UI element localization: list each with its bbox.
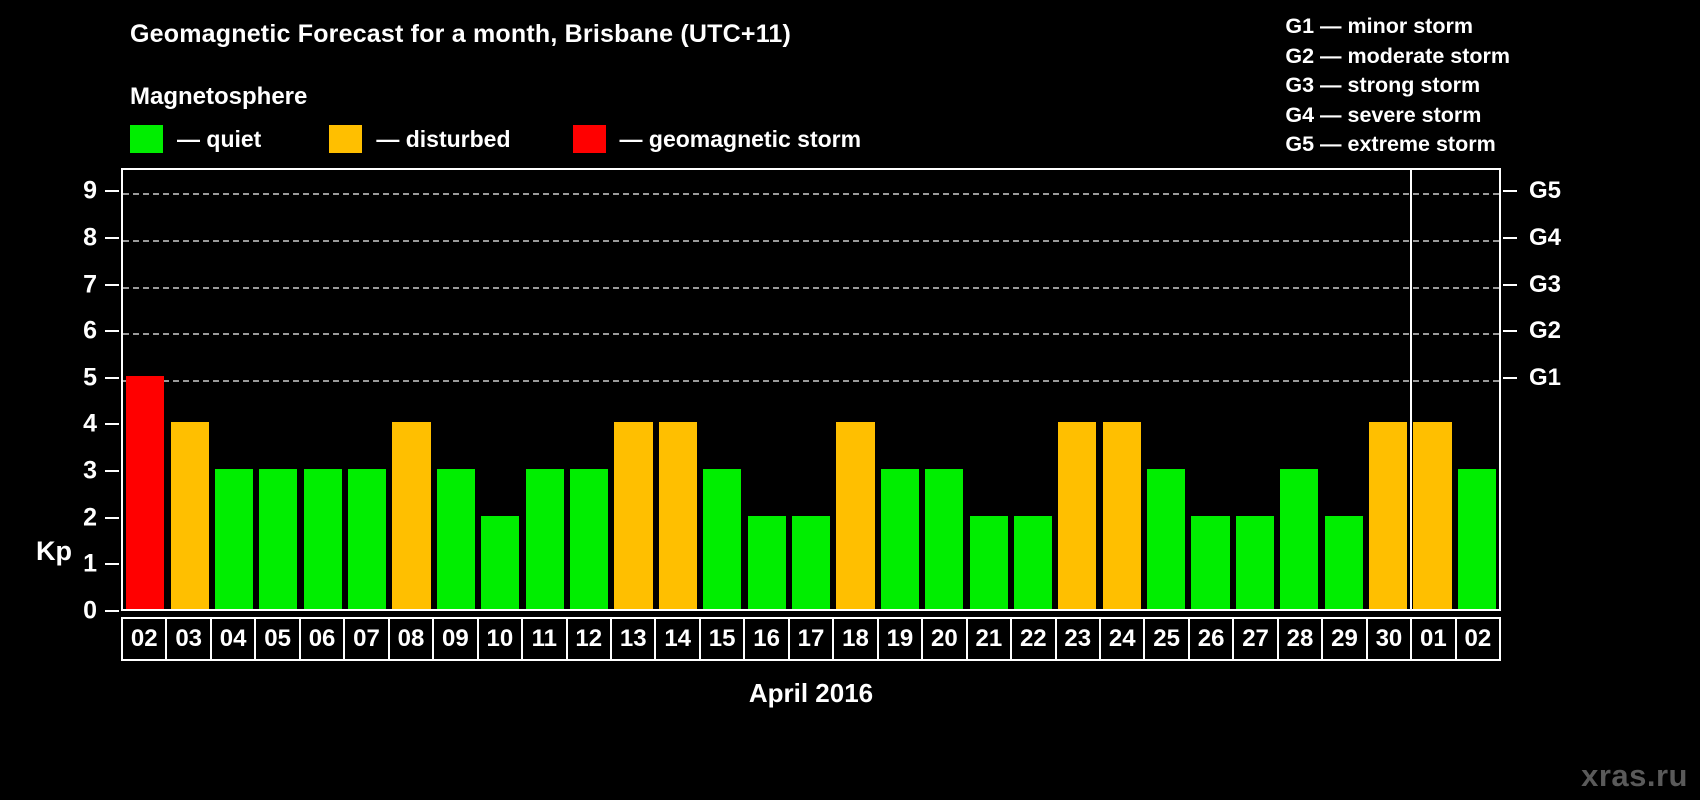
bar-02[interactable] xyxy=(1458,469,1496,609)
x-axis-label-14: 16 xyxy=(745,619,789,659)
bar-cell[interactable] xyxy=(1455,170,1499,609)
plot-area xyxy=(121,168,1501,611)
y-tick-label-3: 3 xyxy=(83,457,97,486)
bar-16[interactable] xyxy=(748,516,786,609)
bar-cell[interactable] xyxy=(212,170,256,609)
y-tick-label-7: 7 xyxy=(83,270,97,299)
legend-label-storm: — geomagnetic storm xyxy=(620,126,862,153)
bar-05[interactable] xyxy=(259,469,297,609)
magnetosphere-legend: — quiet — disturbed — geomagnetic storm xyxy=(130,125,861,153)
bar-cell[interactable] xyxy=(167,170,211,609)
bar-cell[interactable] xyxy=(611,170,655,609)
y-tick-mark-3 xyxy=(105,470,119,472)
bar-26[interactable] xyxy=(1191,516,1229,609)
x-axis-label-11: 13 xyxy=(612,619,656,659)
bar-19[interactable] xyxy=(881,469,919,609)
g-tick-label-G2: G2 xyxy=(1529,317,1561,345)
g-scale-line-g1: G1 — minor storm xyxy=(1285,12,1510,42)
bar-cell[interactable] xyxy=(256,170,300,609)
page-title: Geomagnetic Forecast for a month, Brisba… xyxy=(130,20,791,49)
bar-15[interactable] xyxy=(703,469,741,609)
x-axis-label-2: 04 xyxy=(212,619,256,659)
g-scale-line-g2: G2 — moderate storm xyxy=(1285,42,1510,72)
x-axis-label-29: 01 xyxy=(1412,619,1456,659)
x-axis-label-17: 19 xyxy=(879,619,923,659)
g-tick-label-G3: G3 xyxy=(1529,271,1561,299)
bar-23[interactable] xyxy=(1058,422,1096,609)
bar-06[interactable] xyxy=(304,469,342,609)
legend-item-disturbed: — disturbed xyxy=(329,125,510,153)
g-tick-label-G5: G5 xyxy=(1529,177,1561,205)
bar-14[interactable] xyxy=(659,422,697,609)
g-scale-line-g4: G4 — severe storm xyxy=(1285,101,1510,131)
g-tick-mark-G2 xyxy=(1503,330,1517,332)
y-axis-title: Kp xyxy=(36,536,72,567)
bar-cell[interactable] xyxy=(744,170,788,609)
bar-28[interactable] xyxy=(1280,469,1318,609)
y-tick-label-9: 9 xyxy=(83,177,97,206)
bar-18[interactable] xyxy=(836,422,874,609)
g-tick-mark-G3 xyxy=(1503,284,1517,286)
bar-08[interactable] xyxy=(392,422,430,609)
legend-heading: Magnetosphere xyxy=(130,83,307,111)
y-tick-mark-0 xyxy=(105,610,119,612)
bar-cell[interactable] xyxy=(345,170,389,609)
bar-cell[interactable] xyxy=(1322,170,1366,609)
geomagnetic-forecast-chart: Geomagnetic Forecast for a month, Brisba… xyxy=(0,0,1700,800)
x-axis-label-10: 12 xyxy=(568,619,612,659)
x-axis-label-26: 28 xyxy=(1279,619,1323,659)
y-tick-label-2: 2 xyxy=(83,503,97,532)
bar-cell[interactable] xyxy=(567,170,611,609)
bar-29[interactable] xyxy=(1325,516,1363,609)
bar-cell[interactable] xyxy=(1011,170,1055,609)
bar-cell[interactable] xyxy=(1188,170,1232,609)
bar-20[interactable] xyxy=(925,469,963,609)
y-tick-label-4: 4 xyxy=(83,410,97,439)
bar-cell[interactable] xyxy=(478,170,522,609)
legend-item-storm: — geomagnetic storm xyxy=(573,125,862,153)
bar-cell[interactable] xyxy=(301,170,345,609)
month-divider-line xyxy=(1410,170,1412,609)
x-axis-label-8: 10 xyxy=(479,619,523,659)
g-scale-legend: G1 — minor storm G2 — moderate storm G3 … xyxy=(1285,12,1510,160)
bar-cell[interactable] xyxy=(1100,170,1144,609)
bar-09[interactable] xyxy=(437,469,475,609)
bar-11[interactable] xyxy=(526,469,564,609)
x-axis-label-25: 27 xyxy=(1234,619,1278,659)
g-tick-label-G1: G1 xyxy=(1529,364,1561,392)
x-axis-label-12: 14 xyxy=(656,619,700,659)
legend-label-quiet: — quiet xyxy=(177,126,261,153)
bar-cell[interactable] xyxy=(922,170,966,609)
bar-cell[interactable] xyxy=(878,170,922,609)
y-tick-label-5: 5 xyxy=(83,363,97,392)
bar-cell[interactable] xyxy=(389,170,433,609)
legend-label-disturbed: — disturbed xyxy=(376,126,510,153)
x-axis-label-6: 08 xyxy=(390,619,434,659)
x-axis-label-30: 02 xyxy=(1457,619,1499,659)
bar-30[interactable] xyxy=(1369,422,1407,609)
x-axis-label-27: 29 xyxy=(1323,619,1367,659)
site-watermark: xras.ru xyxy=(1581,758,1688,794)
x-axis-label-1: 03 xyxy=(167,619,211,659)
bar-22[interactable] xyxy=(1014,516,1052,609)
bar-cell[interactable] xyxy=(1144,170,1188,609)
x-axis-label-19: 21 xyxy=(968,619,1012,659)
x-axis-label-16: 18 xyxy=(834,619,878,659)
bar-cell[interactable] xyxy=(833,170,877,609)
legend-swatch-disturbed-icon xyxy=(329,125,362,153)
y-tick-mark-7 xyxy=(105,284,119,286)
y-tick-label-6: 6 xyxy=(83,317,97,346)
x-axis-label-5: 07 xyxy=(345,619,389,659)
x-axis-label-21: 23 xyxy=(1057,619,1101,659)
x-axis-label-24: 26 xyxy=(1190,619,1234,659)
g-tick-label-G4: G4 xyxy=(1529,224,1561,252)
bar-cell[interactable] xyxy=(1410,170,1454,609)
bar-04[interactable] xyxy=(215,469,253,609)
g-tick-mark-G4 xyxy=(1503,237,1517,239)
bar-cell[interactable] xyxy=(966,170,1010,609)
bar-cell[interactable] xyxy=(700,170,744,609)
y-tick-label-1: 1 xyxy=(83,550,97,579)
y-tick-mark-9 xyxy=(105,190,119,192)
g-tick-mark-G1 xyxy=(1503,377,1517,379)
bar-cell[interactable] xyxy=(434,170,478,609)
x-axis-label-13: 15 xyxy=(701,619,745,659)
y-tick-mark-1 xyxy=(105,563,119,565)
x-axis-label-7: 09 xyxy=(434,619,478,659)
bar-cell[interactable] xyxy=(1366,170,1410,609)
y-tick-mark-5 xyxy=(105,377,119,379)
g-scale-line-g5: G5 — extreme storm xyxy=(1285,130,1510,160)
x-axis-date-labels: 0203040506070809101112131415161718192021… xyxy=(121,617,1501,661)
bar-27[interactable] xyxy=(1236,516,1274,609)
bar-21[interactable] xyxy=(970,516,1008,609)
x-axis-title: April 2016 xyxy=(121,678,1501,709)
bar-24[interactable] xyxy=(1103,422,1141,609)
g-scale-line-g3: G3 — strong storm xyxy=(1285,71,1510,101)
bar-01[interactable] xyxy=(1413,422,1451,609)
g-scale-axis: G1G2G3G4G5 xyxy=(1503,168,1700,611)
x-axis-label-23: 25 xyxy=(1145,619,1189,659)
bar-cell[interactable] xyxy=(523,170,567,609)
y-tick-mark-4 xyxy=(105,423,119,425)
x-axis-label-18: 20 xyxy=(923,619,967,659)
bar-cell[interactable] xyxy=(123,170,167,609)
bar-17[interactable] xyxy=(792,516,830,609)
y-tick-label-8: 8 xyxy=(83,223,97,252)
bar-cell[interactable] xyxy=(1233,170,1277,609)
x-axis-label-28: 30 xyxy=(1368,619,1412,659)
bar-cell[interactable] xyxy=(656,170,700,609)
legend-item-quiet: — quiet xyxy=(130,125,261,153)
x-axis-label-15: 17 xyxy=(790,619,834,659)
legend-swatch-storm-icon xyxy=(573,125,606,153)
x-axis-label-3: 05 xyxy=(256,619,300,659)
bar-07[interactable] xyxy=(348,469,386,609)
bar-cell[interactable] xyxy=(789,170,833,609)
bar-12[interactable] xyxy=(570,469,608,609)
bar-10[interactable] xyxy=(481,516,519,609)
y-tick-mark-2 xyxy=(105,517,119,519)
bar-25[interactable] xyxy=(1147,469,1185,609)
bar-03[interactable] xyxy=(171,422,209,609)
y-tick-mark-6 xyxy=(105,330,119,332)
y-tick-label-0: 0 xyxy=(83,597,97,626)
bar-cell[interactable] xyxy=(1055,170,1099,609)
x-axis-label-4: 06 xyxy=(301,619,345,659)
x-axis-label-9: 11 xyxy=(523,619,567,659)
bar-02[interactable] xyxy=(126,376,164,609)
legend-swatch-quiet-icon xyxy=(130,125,163,153)
x-axis-label-20: 22 xyxy=(1012,619,1056,659)
bar-series xyxy=(123,170,1499,609)
bar-13[interactable] xyxy=(614,422,652,609)
g-tick-mark-G5 xyxy=(1503,190,1517,192)
bar-cell[interactable] xyxy=(1277,170,1321,609)
x-axis-label-22: 24 xyxy=(1101,619,1145,659)
y-tick-mark-8 xyxy=(105,237,119,239)
x-axis-label-0: 02 xyxy=(123,619,167,659)
y-axis: Kp 0123456789 xyxy=(0,168,121,611)
